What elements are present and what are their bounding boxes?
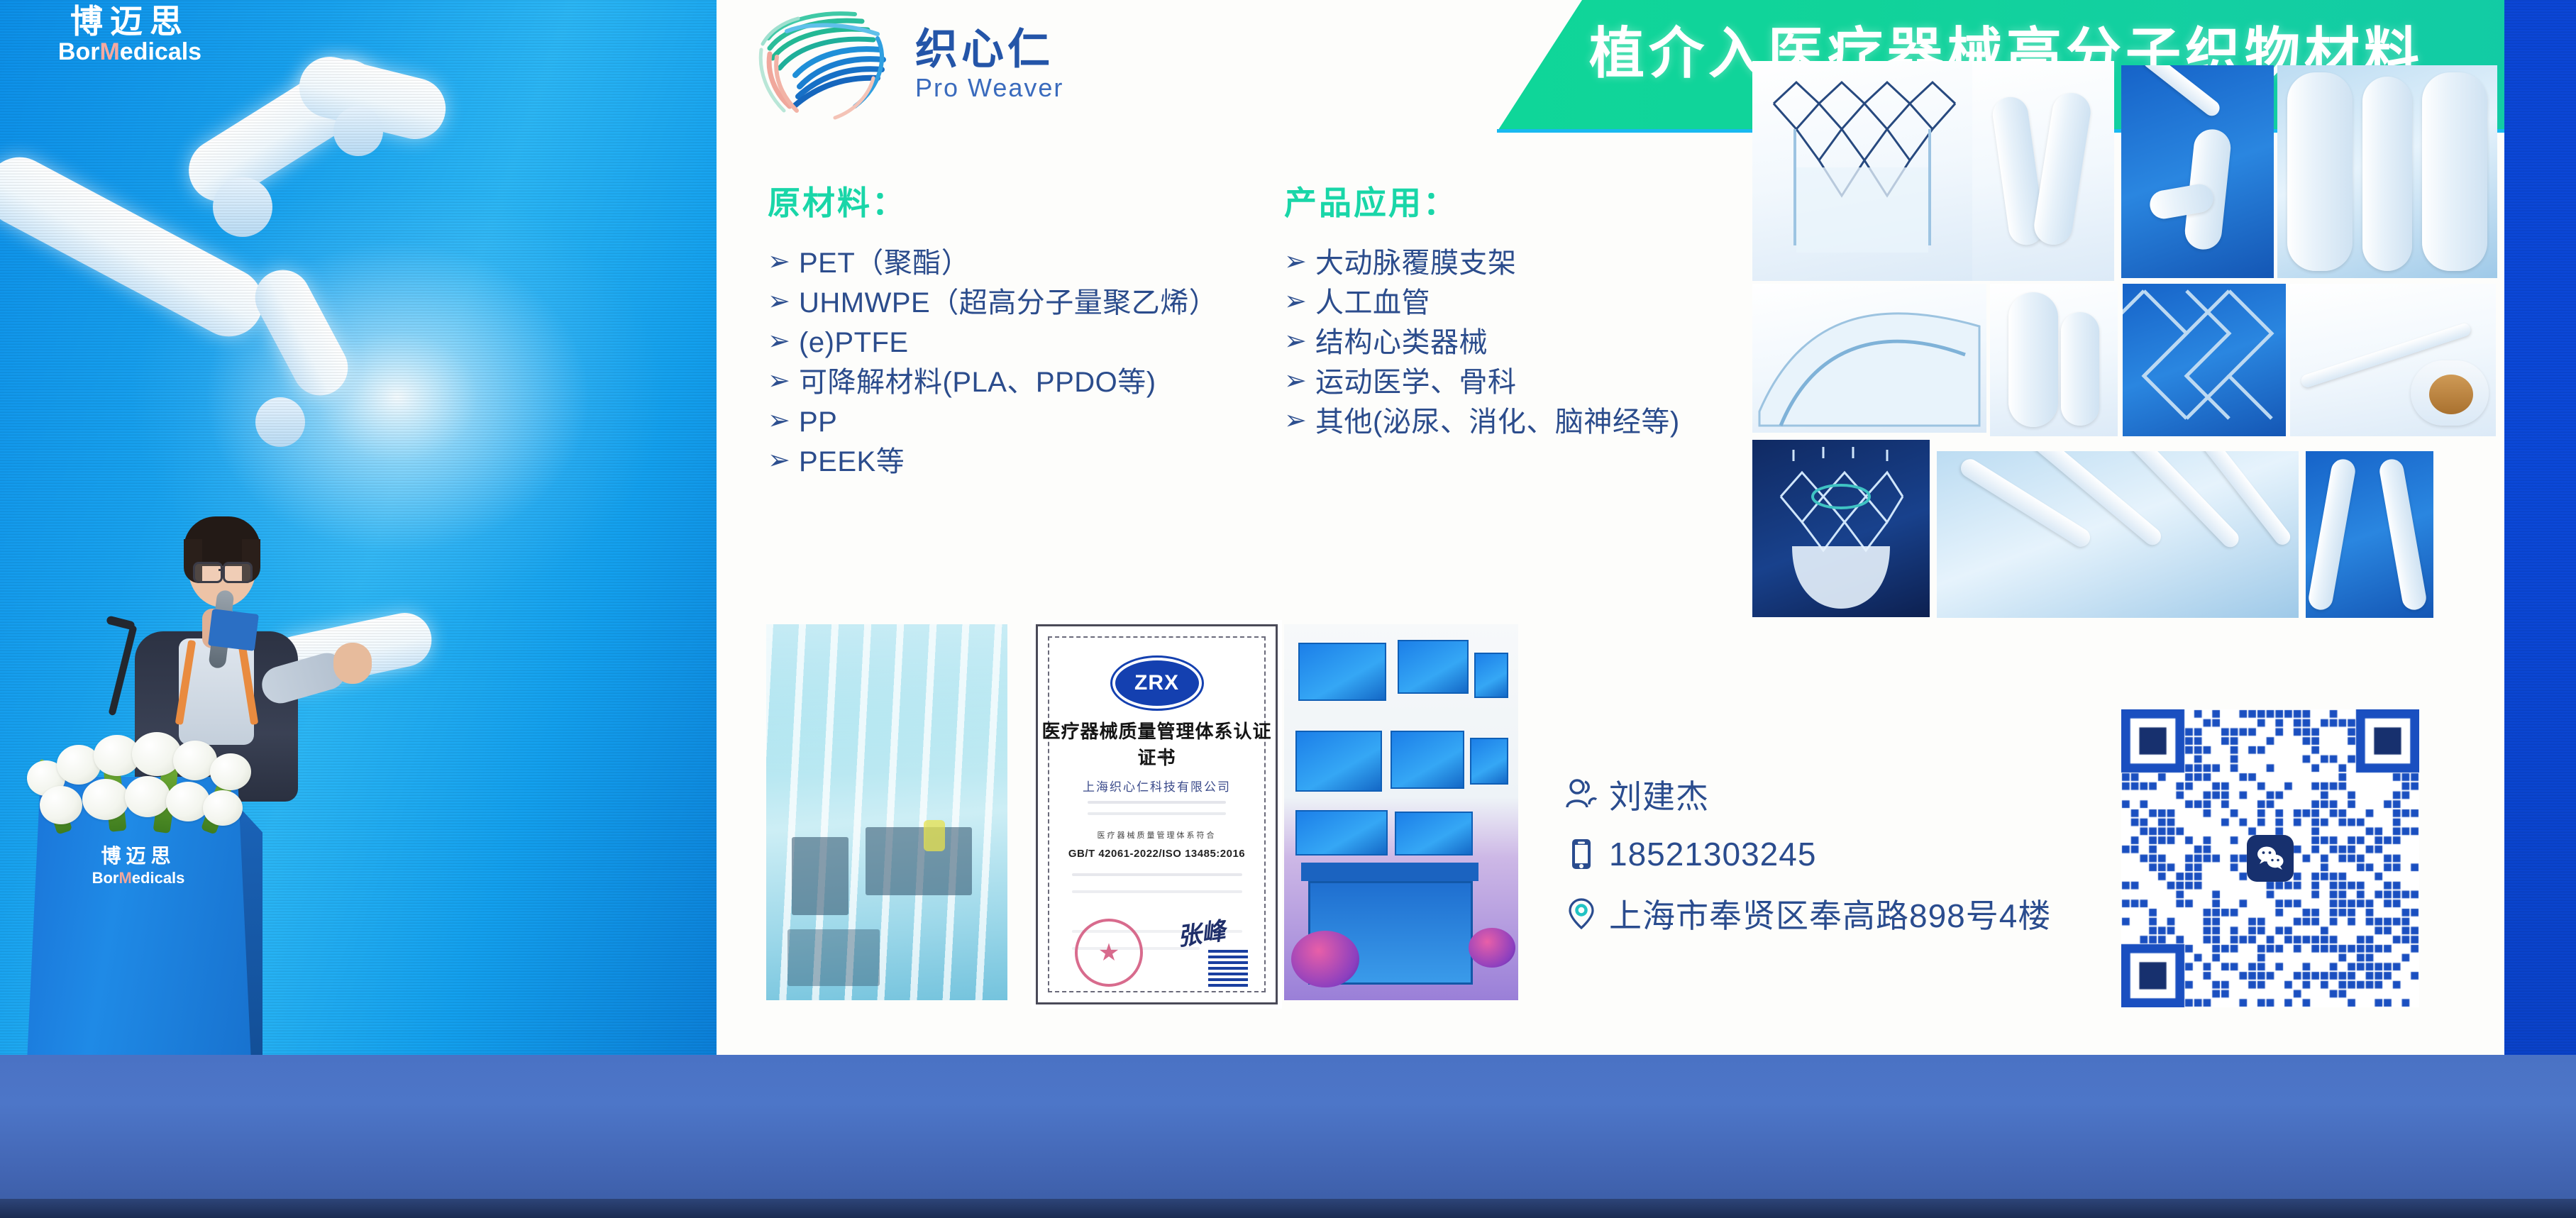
raw-materials-list: ➢PET（聚酯） ➢UHMWPE（超高分子量聚乙烯） ➢(e)PTFE ➢可降解…: [768, 247, 1217, 485]
pro-weaver-name-en: Pro Weaver: [915, 73, 1063, 103]
product-photo-valve-leaflets: [1752, 284, 1986, 433]
stent-mesh-icon: [1752, 61, 1972, 281]
speaker-glasses-bridge: [219, 569, 224, 571]
contact-row-address: 上海市奉贤区奉高路898号4楼: [1554, 884, 2051, 943]
bullet-arrow-icon: ➢: [768, 406, 799, 437]
list-item: ➢大动脉覆膜支架: [1284, 247, 1680, 279]
backdrop-brand-logo: 博迈思 BorMedicals: [13, 4, 247, 66]
bullet-arrow-icon: ➢: [1284, 247, 1315, 278]
speaker-glasses-right: [223, 562, 253, 583]
list-item: ➢其他(泌尿、消化、脑神经等): [1284, 406, 1680, 438]
list-item: ➢PP: [768, 406, 1217, 438]
contact-row-phone: 18521303245: [1554, 824, 2051, 884]
phone-icon: [1554, 836, 1609, 873]
valve-leaflet-icon: [1752, 284, 1986, 433]
pro-weaver-logo: 织心仁 Pro Weaver: [756, 7, 1195, 124]
certificate-qr-code: [1208, 947, 1248, 987]
transcatheter-valve-icon: [1752, 440, 1930, 617]
list-item: ➢(e)PTFE: [768, 326, 1217, 359]
stage-floor: [0, 1055, 2576, 1218]
conference-stage-photo: 博迈思 BorMedicals 博迈思 BorMedicals: [0, 0, 2576, 1218]
product-photo-heart-valve: [1752, 440, 1930, 617]
contact-block: 刘建杰 18521303245: [1554, 765, 2051, 943]
list-item: ➢PET（聚酯）: [768, 247, 1217, 279]
pro-weaver-wordmark: 织心仁 Pro Weaver: [915, 27, 1063, 103]
product-applications-heading: 产品应用：: [1284, 177, 1458, 224]
podium-brand-en: BorMedicals: [43, 869, 234, 887]
podium-flower-arrangement: [20, 716, 275, 830]
list-item: ➢PEEK等: [768, 445, 1217, 478]
product-photo-vascular-grafts: [1937, 451, 2299, 618]
stage-floor-shadow: [0, 1199, 2576, 1218]
bullet-arrow-icon: ➢: [1284, 366, 1315, 397]
list-item-label: PEEK等: [799, 445, 905, 478]
list-item: ➢结构心类器械: [1284, 326, 1680, 359]
product-photo-cuff: [1990, 284, 2118, 436]
cleanroom-facility-photo: [766, 624, 1007, 1000]
bullet-arrow-icon: ➢: [768, 247, 799, 278]
product-photo-leaflet: [1972, 61, 2114, 281]
bullet-arrow-icon: ➢: [768, 366, 799, 397]
bullet-arrow-icon: ➢: [768, 445, 799, 477]
bullet-arrow-icon: ➢: [1284, 287, 1315, 318]
bullet-arrow-icon: ➢: [768, 287, 799, 318]
list-item-label: PET（聚酯）: [799, 247, 970, 279]
product-photo-delivery-catheter: [2290, 284, 2496, 436]
contact-row-name: 刘建杰: [1554, 765, 2051, 824]
led-wall-right: [2504, 0, 2576, 1057]
certificate-company: 上海织心仁科技有限公司: [1038, 777, 1276, 795]
product-photo-suture-tool: [2121, 65, 2274, 278]
list-item: ➢UHMWPE（超高分子量聚乙烯）: [768, 287, 1217, 319]
list-item: ➢运动医学、骨科: [1284, 366, 1680, 399]
contact-phone: 18521303245: [1609, 835, 1816, 873]
list-item: ➢可降解材料(PLA、PPDO等): [768, 366, 1217, 399]
certificate-standard: GB/T 42061-2022/ISO 13485:2016: [1038, 848, 1276, 860]
raw-materials-heading: 原材料：: [768, 177, 907, 224]
product-photo-stent-frame: [1752, 61, 1972, 281]
bullet-arrow-icon: ➢: [1284, 406, 1315, 437]
list-item-label: 运动医学、骨科: [1315, 366, 1517, 399]
list-item-label: 其他(泌尿、消化、脑神经等): [1315, 406, 1680, 438]
microphone-flag: [208, 609, 259, 651]
podium-brand-logo: 博迈思 BorMedicals: [43, 841, 234, 887]
product-photo-bifurcated-graft: [2306, 451, 2433, 618]
presentation-slide: 织心仁 Pro Weaver 植介入医疗器械高分子织物材料 原材料： ➢PET（…: [717, 0, 2504, 1056]
list-item-label: 可降解材料(PLA、PPDO等): [799, 366, 1156, 399]
contact-address: 上海市奉贤区奉高路898号4楼: [1609, 890, 2051, 937]
podium-brand-cn: 博迈思: [43, 841, 234, 869]
iso-certificate-photo: ZRX 医疗器械质量管理体系认证证书 证 书 上海织心仁科技有限公司 医疗器械质…: [1036, 624, 1278, 1004]
bullet-arrow-icon: ➢: [1284, 326, 1315, 358]
product-photo-woven-graft: [2277, 65, 2497, 278]
speaker-glasses-left: [193, 562, 223, 583]
list-item-label: 大动脉覆膜支架: [1315, 247, 1517, 279]
diamond-mesh-icon: [2123, 284, 2286, 436]
backdrop-brand-en: BorMedicals: [13, 38, 247, 66]
backdrop-brand-cn: 博迈思: [13, 4, 247, 38]
zrx-seal-icon: ZRX: [1112, 658, 1202, 709]
list-item-label: PP: [799, 406, 837, 438]
woven-ribbon-logo-icon: [756, 7, 905, 121]
list-item-label: UHMWPE（超高分子量聚乙烯）: [799, 287, 1217, 319]
list-item-label: 人工血管: [1315, 287, 1430, 319]
person-icon: [1554, 776, 1609, 813]
certificate-signature: 张峰: [1175, 912, 1227, 953]
wechat-qr-code[interactable]: [2121, 709, 2419, 1007]
certificate-scope-label: 医疗器械质量管理体系符合: [1038, 829, 1276, 841]
speaker-hand: [333, 643, 372, 684]
list-item-label: 结构心类器械: [1315, 326, 1488, 359]
list-item: ➢人工血管: [1284, 287, 1680, 319]
certificate-red-seal: ★: [1075, 919, 1143, 987]
bullet-arrow-icon: ➢: [768, 326, 799, 358]
list-item-label: (e)PTFE: [799, 326, 909, 359]
company-building-photo: [1284, 624, 1518, 1000]
product-photo-nitinol-stent: [2123, 284, 2286, 436]
location-pin-icon: [1554, 895, 1609, 932]
pro-weaver-name-cn: 织心仁: [915, 27, 1063, 72]
contact-name: 刘建杰: [1609, 771, 1709, 818]
certificate-subtitle: 证 书: [1038, 748, 1276, 762]
wechat-icon: [2247, 835, 2294, 882]
product-applications-list: ➢大动脉覆膜支架 ➢人工血管 ➢结构心类器械 ➢运动医学、骨科 ➢其他(泌尿、消…: [1284, 247, 1680, 445]
